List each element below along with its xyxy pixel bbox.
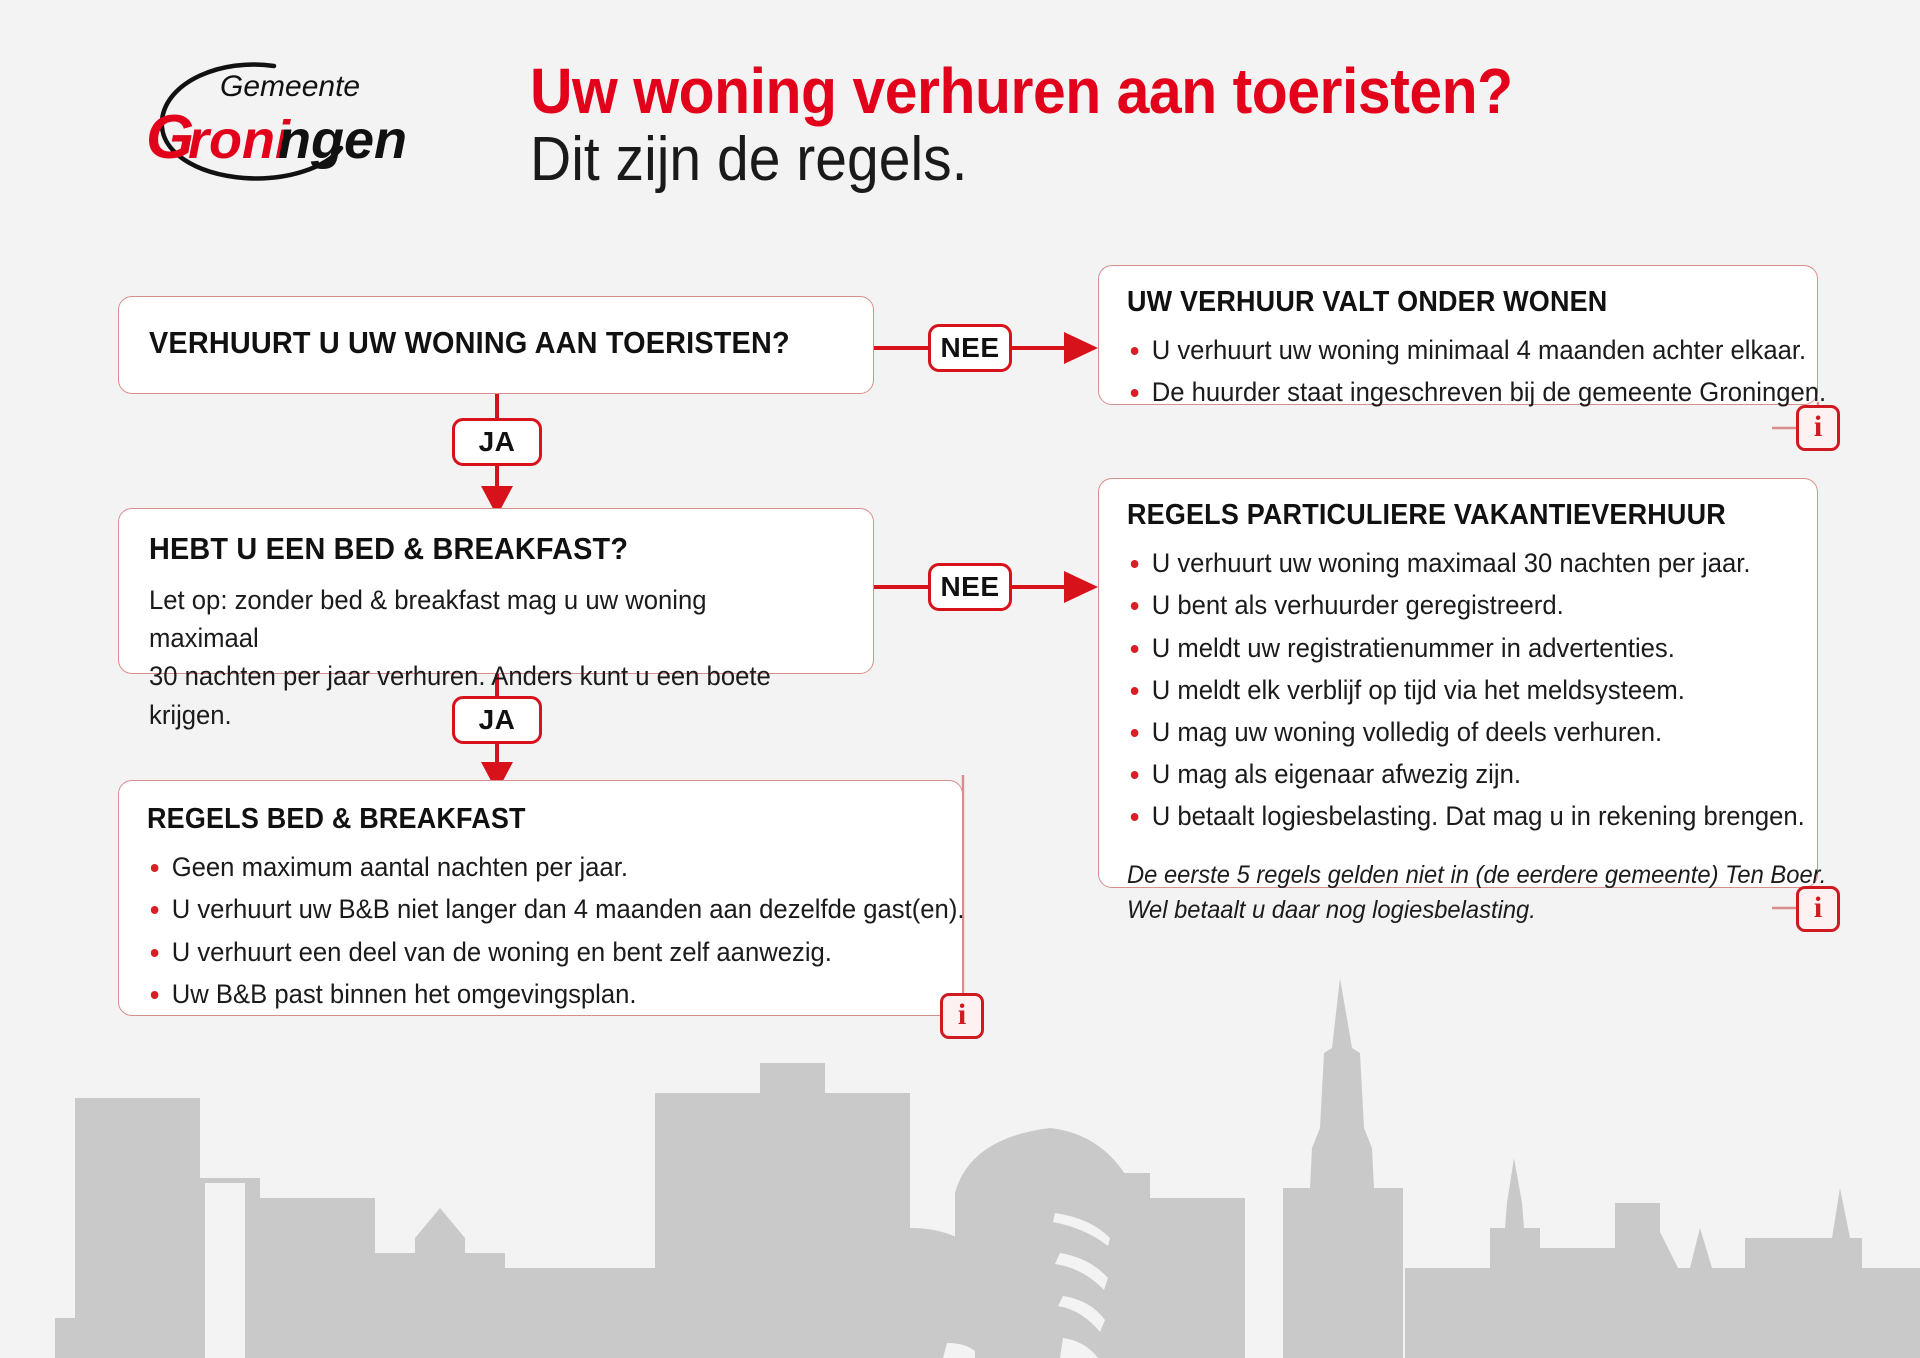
gemeente-groningen-logo: Gemeente G roni ngen — [126, 48, 426, 183]
svg-text:Gemeente: Gemeente — [220, 70, 360, 103]
result-vakantie-title: REGELS PARTICULIERE VAKANTIEVERHUUR — [1127, 499, 1743, 532]
list-item: U verhuurt een deel van de woning en ben… — [147, 933, 895, 972]
list-item: U mag uw woning volledig of deels verhur… — [1127, 713, 1756, 752]
list-item: U verhuurt uw woning maximaal 30 nachten… — [1127, 544, 1756, 583]
list-item: U betaalt logiesbelasting. Dat mag u in … — [1127, 797, 1756, 836]
result-wonen-bullets: U verhuurt uw woning minimaal 4 maanden … — [1127, 331, 1789, 412]
info-icon-wonen[interactable]: i — [1796, 405, 1840, 451]
list-item: De huurder staat ingeschreven bij de gem… — [1127, 373, 1756, 412]
result-bb-bullets: Geen maximum aantal nachten per jaar. U … — [147, 848, 934, 1014]
badge-nee-2: NEE — [928, 563, 1012, 611]
list-item: U verhuurt uw B&B niet langer dan 4 maan… — [147, 890, 895, 929]
result-box-bed-breakfast[interactable]: REGELS BED & BREAKFAST Geen maximum aant… — [118, 780, 963, 1016]
result-box-wonen[interactable]: UW VERHUUR VALT ONDER WONEN U verhuurt u… — [1098, 265, 1818, 405]
svg-text:G: G — [146, 103, 194, 172]
info-icon-glyph: i — [958, 1000, 966, 1030]
result-bb-title: REGELS BED & BREAKFAST — [147, 803, 879, 836]
question-box-bed-breakfast[interactable]: HEBT U EEN BED & BREAKFAST? Let op: zond… — [118, 508, 874, 674]
badge-ja-2: JA — [452, 696, 542, 744]
list-item: U bent als verhuurder geregistreerd. — [1127, 586, 1756, 625]
question-1-title: VERHUURT U UW WONING AAN TOERISTEN? — [149, 325, 794, 361]
info-icon-glyph: i — [1814, 412, 1822, 442]
result-box-vakantieverhuur[interactable]: REGELS PARTICULIERE VAKANTIEVERHUUR U ve… — [1098, 478, 1818, 888]
page-title-group: Uw woning verhuren aan toeristen? Dit zi… — [530, 58, 1830, 194]
badge-nee-2-label: NEE — [940, 571, 999, 603]
result-vakantie-bullets: U verhuurt uw woning maximaal 30 nachten… — [1127, 544, 1789, 836]
list-item: Geen maximum aantal nachten per jaar. — [147, 848, 895, 887]
info-icon-vakantieverhuur[interactable]: i — [1796, 886, 1840, 932]
result-wonen-title: UW VERHUUR VALT ONDER WONEN — [1127, 286, 1743, 319]
svg-text:roni: roni — [188, 110, 291, 170]
badge-nee-1-label: NEE — [940, 332, 999, 364]
question-box-verhuurt-u[interactable]: VERHUURT U UW WONING AAN TOERISTEN? — [118, 296, 874, 394]
badge-ja-1-label: JA — [479, 426, 516, 458]
result-vakantie-note: De eerste 5 regels gelden niet in (de ee… — [1127, 858, 1756, 927]
header: Gemeente G roni ngen Uw woning verhuren … — [0, 0, 1920, 230]
badge-nee-1: NEE — [928, 324, 1012, 372]
list-item: U meldt uw registratienummer in adverten… — [1127, 629, 1756, 668]
page-subtitle: Dit zijn de regels. — [530, 125, 1726, 194]
badge-ja-2-label: JA — [479, 704, 516, 736]
list-item: U meldt elk verblijf op tijd via het mel… — [1127, 671, 1756, 710]
page-title: Uw woning verhuren aan toeristen? — [530, 58, 1726, 125]
list-item: U mag als eigenaar afwezig zijn. — [1127, 755, 1756, 794]
result-vakantie-note-line2: Wel betaalt u daar nog logiesbelasting. — [1127, 893, 1756, 928]
list-item: U verhuurt uw woning minimaal 4 maanden … — [1127, 331, 1756, 370]
list-item: Uw B&B past binnen het omgevingsplan. — [147, 975, 895, 1014]
question-2-subtext-line1: Let op: zonder bed & breakfast mag u uw … — [149, 581, 808, 658]
question-2-title: HEBT U EEN BED & BREAKFAST? — [149, 531, 794, 567]
info-icon-glyph: i — [1814, 893, 1822, 923]
svg-text:ngen: ngen — [278, 110, 407, 170]
info-icon-bed-breakfast[interactable]: i — [940, 993, 984, 1039]
result-vakantie-note-line1: De eerste 5 regels gelden niet in (de ee… — [1127, 858, 1756, 893]
badge-ja-1: JA — [452, 418, 542, 466]
